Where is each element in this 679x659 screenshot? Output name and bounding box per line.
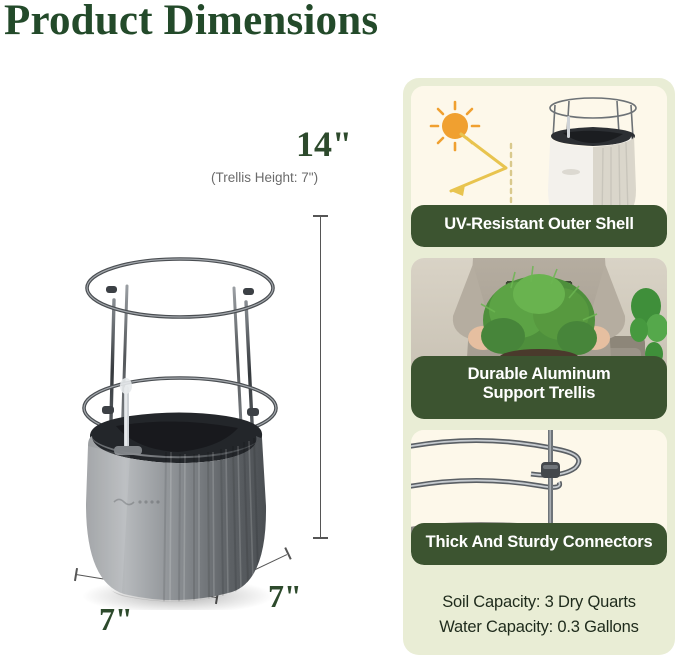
trellis-height-note: (Trellis Height: 7"): [211, 170, 318, 185]
feature-label-connectors: Thick And Sturdy Connectors: [411, 523, 667, 565]
soil-capacity-text: Soil Capacity: 3 Dry Quarts: [403, 590, 675, 616]
feature-card-connectors[interactable]: Thick And Sturdy Connectors: [411, 430, 667, 565]
feature-label-line-1: Durable Aluminum: [468, 365, 611, 383]
height-dimension-cap-top: [313, 215, 328, 217]
height-dimension-cap-bottom: [313, 537, 328, 539]
features-panel: UV-Resistant Outer Shell: [403, 78, 675, 655]
water-capacity-text: Water Capacity: 0.3 Gallons: [403, 615, 675, 641]
feature-label-line-2: Support Trellis: [483, 384, 596, 402]
product-dimension-diagram: 14" (Trellis Height: 7") 7" 7": [0, 60, 395, 659]
capacity-specs: Soil Capacity: 3 Dry Quarts Water Capaci…: [403, 590, 675, 641]
connector-clamp: [541, 462, 560, 478]
product-illustration: [70, 190, 300, 610]
height-dimension-label: 14": [296, 123, 352, 165]
height-dimension-line: [320, 215, 321, 538]
feature-label-aluminum-trellis: Durable Aluminum Support Trellis: [411, 356, 667, 419]
feature-label-uv-resistant: UV-Resistant Outer Shell: [411, 205, 667, 247]
feature-card-uv-resistant[interactable]: UV-Resistant Outer Shell: [411, 86, 667, 247]
feature-card-aluminum-trellis[interactable]: Durable Aluminum Support Trellis: [411, 258, 667, 419]
page-title: Product Dimensions: [4, 0, 378, 45]
